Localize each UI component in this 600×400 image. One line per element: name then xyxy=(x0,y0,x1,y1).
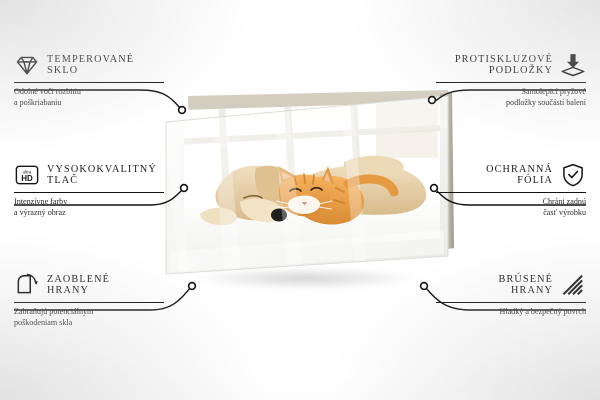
feature-description: Samolepicí pryžové podložky součástí bal… xyxy=(436,87,586,109)
svg-text:HD: HD xyxy=(21,174,33,183)
infographic-canvas: TEMPEROVANÉ SKLO Odolné voči rozbitiu a … xyxy=(0,0,600,400)
feature-divider xyxy=(14,192,164,193)
feature-title-line-2: SKLO xyxy=(47,65,134,76)
feature-title-line-2: FÓLIA xyxy=(486,175,553,186)
feature-title-line-2: PODLOŽKY xyxy=(455,65,553,76)
feature-description: Chráni zadnú časť výrobku xyxy=(436,197,586,219)
feature-title-line-1: ZAOBLENÉ xyxy=(47,274,110,285)
feature-header: TEMPEROVANÉ SKLO xyxy=(14,52,164,78)
rounded-corner-icon xyxy=(14,272,40,298)
diagonal-lines-icon xyxy=(560,272,586,298)
feature-header: ultra HD VYSOKOKVALITNÝ TLAČ xyxy=(14,162,164,188)
feature-description: Odolné voči rozbitiu a poškriabaniu xyxy=(14,87,164,109)
feature-header: ZAOBLENÉ HRANY xyxy=(14,272,164,298)
feature-description: Intenzívne farby a výrazný obraz xyxy=(14,197,164,219)
feature-description: Zabraňujú potenciálnym poškodeniam skla xyxy=(14,307,164,329)
feature-title-line-1: PROTISKLUZOVÉ xyxy=(455,54,553,65)
feature-title-line-2: HRANY xyxy=(47,285,110,296)
feature-title-line-1: BRÚSENÉ xyxy=(499,274,553,285)
feature-title: BRÚSENÉ HRANY xyxy=(499,274,553,297)
feature-divider xyxy=(436,82,586,83)
shield-check-icon xyxy=(560,162,586,188)
press-pad-icon xyxy=(560,52,586,78)
feature-tempered-glass: TEMPEROVANÉ SKLO Odolné voči rozbitiu a … xyxy=(14,52,164,109)
feature-divider xyxy=(436,302,586,303)
feature-divider xyxy=(14,82,164,83)
feature-rounded-edges: ZAOBLENÉ HRANY Zabraňujú potenciálnym po… xyxy=(14,272,164,329)
feature-high-quality-print: ultra HD VYSOKOKVALITNÝ TLAČ Intenzívne … xyxy=(14,162,164,219)
feature-protective-film: OCHRANNÁ FÓLIA Chráni zadnú časť výrobku xyxy=(436,162,586,219)
feature-description: Hladký a bezpečný povrch xyxy=(436,307,586,318)
feature-title: ZAOBLENÉ HRANY xyxy=(47,274,110,297)
feature-title: VYSOKOKVALITNÝ TLAČ xyxy=(47,164,157,187)
feature-header: BRÚSENÉ HRANY xyxy=(436,272,586,298)
feature-title-line-1: TEMPEROVANÉ xyxy=(47,54,134,65)
product-board xyxy=(148,88,458,288)
feature-title-line-1: VYSOKOKVALITNÝ xyxy=(47,164,157,175)
feature-brushed-edges: BRÚSENÉ HRANY Hladký a bezpečný povrch xyxy=(436,272,586,318)
feature-title: TEMPEROVANÉ SKLO xyxy=(47,54,134,77)
feature-divider xyxy=(436,192,586,193)
feature-anti-slip-pads: PROTISKLUZOVÉ PODLOŽKY Samolepicí pryžov… xyxy=(436,52,586,109)
feature-header: OCHRANNÁ FÓLIA xyxy=(436,162,586,188)
feature-title: OCHRANNÁ FÓLIA xyxy=(486,164,553,187)
feature-title: PROTISKLUZOVÉ PODLOŽKY xyxy=(455,54,553,77)
diamond-icon xyxy=(14,52,40,78)
feature-title-line-2: TLAČ xyxy=(47,175,157,186)
feature-title-line-1: OCHRANNÁ xyxy=(486,164,553,175)
feature-divider xyxy=(14,302,164,303)
feature-title-line-2: HRANY xyxy=(499,285,553,296)
feature-header: PROTISKLUZOVÉ PODLOŽKY xyxy=(436,52,586,78)
ultra-hd-icon: ultra HD xyxy=(14,162,40,188)
product-illustration xyxy=(148,88,458,288)
